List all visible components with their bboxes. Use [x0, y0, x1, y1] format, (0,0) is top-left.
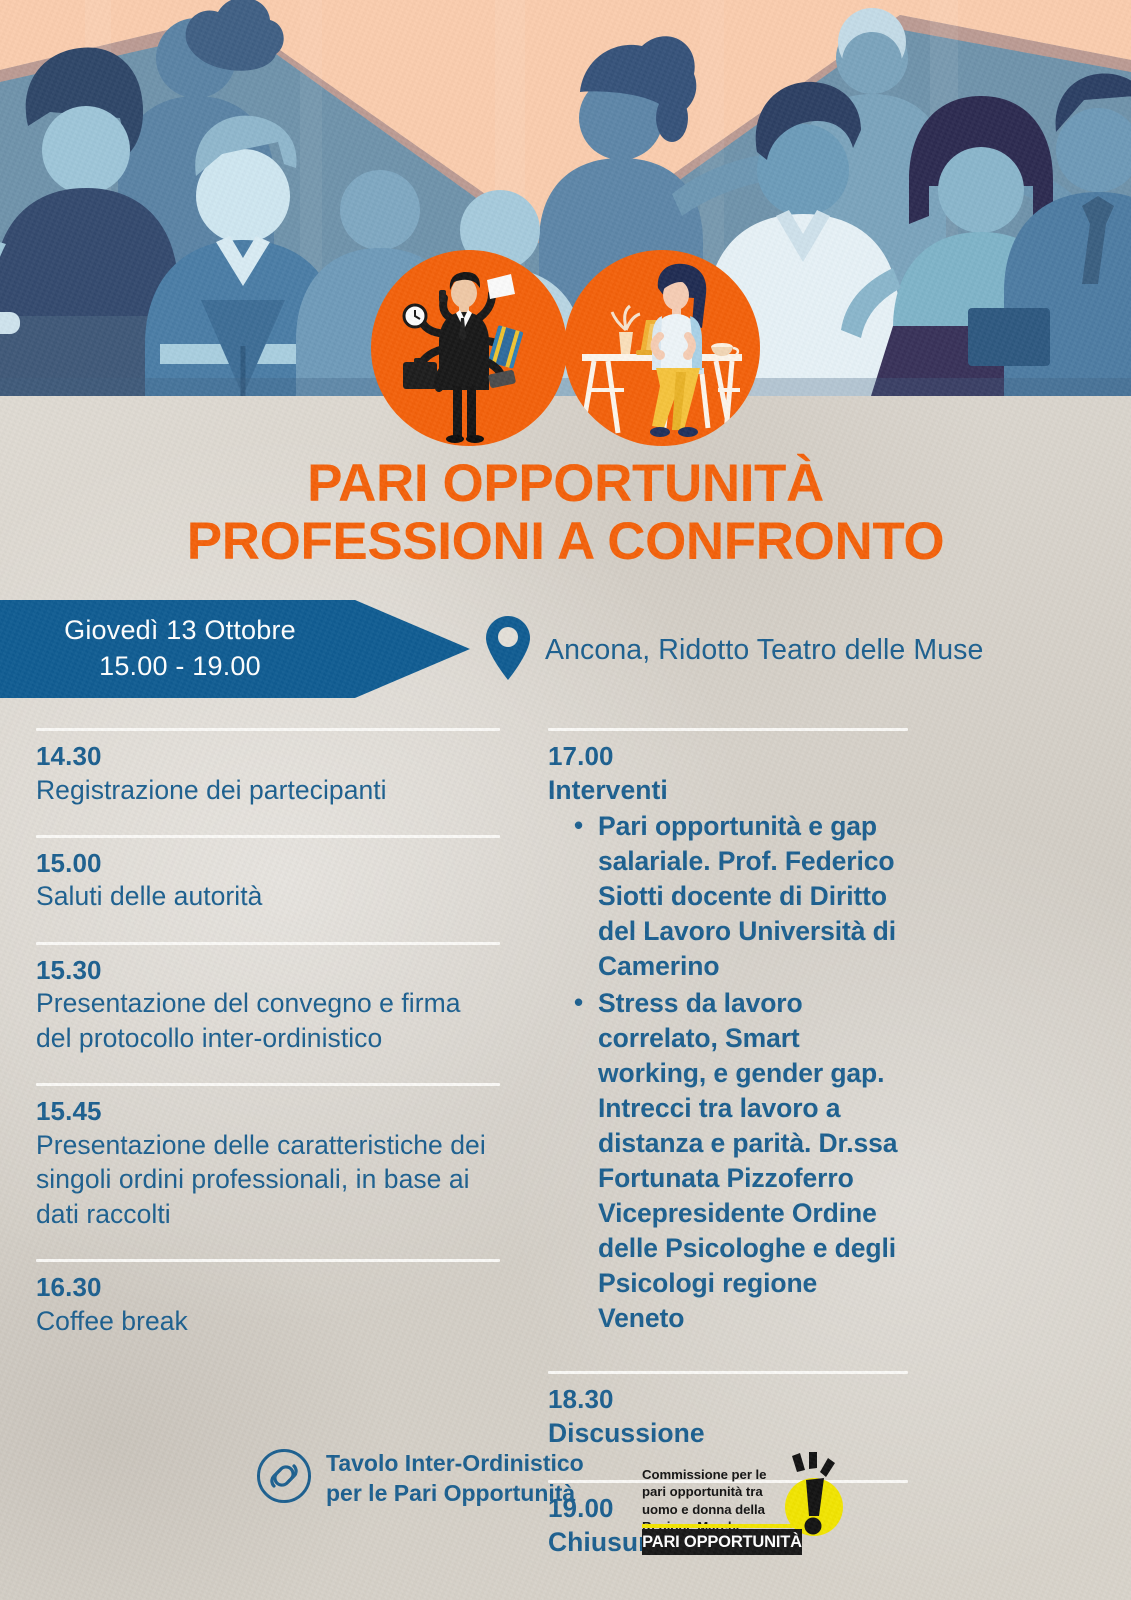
illustration-circle-woman-desk	[564, 250, 760, 446]
title-line-1: Pari Opportunità	[307, 454, 824, 513]
commissione-logo: Commissione per le pari opportunità tra …	[638, 1438, 846, 1560]
agenda-divider	[36, 835, 500, 838]
agenda-divider	[36, 942, 500, 945]
tavolo-label: Tavolo Inter-Ordinistico per le Pari Opp…	[326, 1449, 584, 1509]
agenda-time: 17.00	[548, 740, 908, 773]
agenda-divider	[36, 1259, 500, 1262]
agenda-item: 14.30 Registrazione dei partecipanti	[36, 728, 500, 807]
agenda-time: 16.30	[36, 1271, 500, 1304]
agenda-item: 15.30 Presentazione del convegno e firma…	[36, 942, 500, 1055]
agenda-column-left: 14.30 Registrazione dei partecipanti 15.…	[36, 728, 500, 1366]
agenda-divider	[36, 1083, 500, 1086]
location-text: Ancona, Ridotto Teatro delle Muse	[545, 634, 983, 667]
illustration-circle-businessman	[371, 250, 567, 446]
agenda-description: Presentazione del convegno e firma del p…	[36, 986, 500, 1055]
agenda-description: Interventi	[548, 773, 908, 807]
list-item: Stress da lavoro correlato, Smart workin…	[572, 986, 908, 1336]
map-pin-icon	[485, 615, 531, 686]
footer: Tavolo Inter-Ordinistico per le Pari Opp…	[0, 1434, 1131, 1564]
date-day: Giovedì 13 Ottobre	[64, 613, 296, 649]
commissione-bar-label: PARI OPPORTUNITÀ	[642, 1533, 802, 1552]
date-time: 15.00 - 19.00	[99, 649, 261, 685]
agenda-time: 18.30	[548, 1383, 908, 1416]
agenda-divider	[548, 728, 908, 731]
chain-link-icon	[256, 1448, 312, 1509]
agenda-item: 15.00 Saluti delle autorità	[36, 835, 500, 914]
agenda-time: 15.30	[36, 954, 500, 987]
agenda-description: Saluti delle autorità	[36, 879, 500, 913]
tavolo-line-2: per le Pari Opportunità	[326, 1479, 584, 1509]
agenda-description: Coffee break	[36, 1304, 500, 1338]
agenda-item: 15.45 Presentazione delle caratteristich…	[36, 1083, 500, 1231]
commissione-accent-line	[642, 1524, 794, 1528]
agenda-item: 17.00 Interventi Pari opportunità e gap …	[548, 728, 908, 1335]
agenda-divider	[548, 1371, 908, 1374]
tavolo-line-1: Tavolo Inter-Ordinistico	[326, 1449, 584, 1479]
tavolo-logo: Tavolo Inter-Ordinistico per le Pari Opp…	[256, 1448, 584, 1509]
agenda-description: Presentazione delle caratteristiche dei …	[36, 1128, 500, 1231]
agenda-time: 14.30	[36, 740, 500, 773]
location-row: Ancona, Ridotto Teatro delle Muse	[485, 605, 1131, 695]
agenda-divider	[36, 728, 500, 731]
agenda-bullet-list: Pari opportunità e gap salariale. Prof. …	[548, 809, 908, 1336]
agenda-time: 15.45	[36, 1095, 500, 1128]
list-item: Pari opportunità e gap salariale. Prof. …	[572, 809, 908, 984]
title-line-2: Professioni a Confronto	[0, 513, 1131, 571]
commissione-bar: PARI OPPORTUNITÀ	[642, 1529, 802, 1555]
agenda-description: Registrazione dei partecipanti	[36, 773, 500, 807]
agenda-item: 16.30 Coffee break	[36, 1259, 500, 1338]
agenda-time: 15.00	[36, 847, 500, 880]
page-title: Pari Opportunità Professioni a Confronto	[0, 455, 1131, 571]
